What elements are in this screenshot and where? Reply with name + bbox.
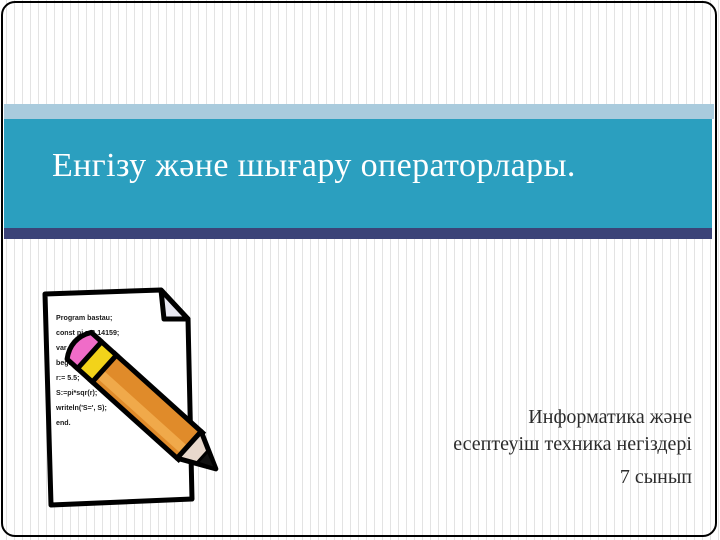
paper-and-pencil-illustration: Program bastau; const pi = 3.14159; var … — [28, 286, 244, 510]
title-banner: Енгізу және шығару операторлары. — [4, 104, 714, 240]
subtitle-line-3: 7 сынып — [252, 464, 692, 491]
slide-subtitle: Информатика және есептеуіш техника негіз… — [252, 404, 692, 491]
presentation-slide: Енгізу және шығару операторлары. Информа… — [0, 0, 720, 540]
code-line-5: S:=pi*sqr(r); — [56, 389, 97, 397]
code-line-0: Program bastau; — [56, 314, 112, 322]
slide-title: Енгізу және шығару операторлары. — [52, 144, 692, 188]
code-line-7: end. — [56, 419, 71, 427]
banner-light-band — [4, 104, 714, 119]
code-line-6: writeln('S=', S); — [55, 404, 107, 412]
code-line-4: r:= 5.5; — [56, 374, 79, 382]
subtitle-line-1: Информатика және — [252, 404, 692, 431]
banner-navy-band — [4, 228, 712, 239]
subtitle-line-2: есептеуіш техника негіздері — [252, 431, 692, 458]
